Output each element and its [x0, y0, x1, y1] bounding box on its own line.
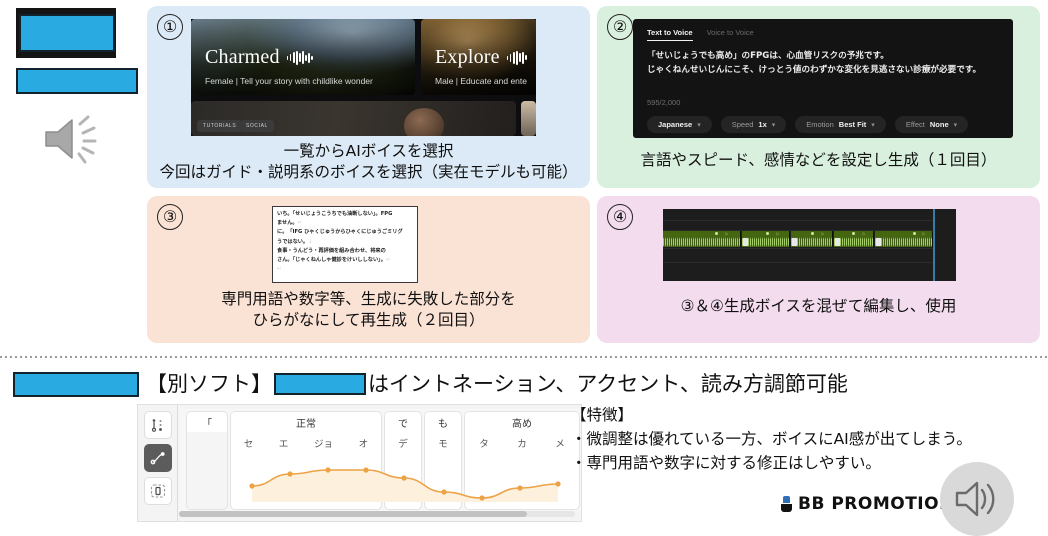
- redacted-product-name: [274, 373, 366, 395]
- tab-text-to-voice[interactable]: Text to Voice: [647, 28, 693, 41]
- chevron-down-icon: ▾: [871, 121, 875, 129]
- logo-mark-top: [783, 496, 790, 503]
- voice-card-title-text: Charmed: [205, 46, 280, 69]
- tag-social[interactable]: SOCIAL: [240, 120, 274, 132]
- character-counter: 595/2,000: [647, 98, 680, 107]
- tag-tutorials[interactable]: TUTORIALS: [197, 120, 242, 132]
- pitch-curve-tool-button[interactable]: [144, 444, 172, 472]
- intonation-editor: 「 正常 で も 高め セ エ ジョ オ デ: [137, 404, 582, 522]
- mora-labels: タ カ メ: [465, 436, 579, 450]
- clip-badge: [792, 238, 797, 246]
- mora-column-seijou[interactable]: セ エ ジョ オ: [230, 432, 382, 510]
- segment-mo[interactable]: も: [424, 411, 462, 432]
- doc-line-4: うではない。: [277, 239, 308, 245]
- audio-clip[interactable]: fx: [834, 231, 874, 247]
- headline-prefix: 【別ソフト】: [146, 369, 272, 399]
- speed-value: 1x: [758, 120, 766, 129]
- step-panel-1: ① Charmed Female | Tell your story with …: [147, 6, 590, 188]
- clip-waveform: [791, 237, 832, 247]
- mora-labels: モ: [425, 436, 461, 450]
- language-value: Japanese: [658, 120, 692, 129]
- effect-label: Effect: [906, 120, 925, 129]
- voice-card-banner[interactable]: TUTORIALS SOCIAL: [191, 101, 516, 136]
- document-screenshot: いち。「せいじょうこうちでも油断しない」。FPG ません。↵ に。 「IFG ひ…: [272, 206, 418, 283]
- doc-line-1: いち。「せいじょうこうちでも油断しない」。FPG: [277, 211, 392, 217]
- mora-o: オ: [359, 436, 369, 450]
- bottom-headline: 【別ソフト】 はイントネーション、アクセント、読み方調節可能: [146, 369, 848, 399]
- waveform-icon: [287, 51, 313, 65]
- voice-card-subtitle: Male | Educate and ente: [435, 76, 527, 86]
- speaker-icon: [38, 108, 106, 170]
- bb-promotion-logo: BB PROMOTION: [781, 494, 954, 514]
- logo-mark-icon: [781, 496, 792, 512]
- clip-fx-icon: fx: [922, 232, 925, 236]
- clip-badge: [743, 238, 748, 246]
- clip-fx-icon: fx: [862, 232, 865, 236]
- doc-line-6: さん。「じゃくねんしゃ健診をけいししない」。: [277, 257, 386, 263]
- timeline-gridline: [663, 262, 933, 263]
- audio-clip[interactable]: fx: [791, 231, 833, 247]
- audio-clip[interactable]: fx: [742, 231, 790, 247]
- step-panel-3: ③ いち。「せいじょうこうちでも油断しない」。FPG ません。↵ に。 「IFG…: [147, 196, 590, 343]
- tts-editor-screenshot: Text to Voice Voice to Voice 「せいじょうでも高め」…: [633, 19, 1013, 138]
- clip-dot-icon: [766, 232, 769, 235]
- voice-card-title: Charmed: [205, 46, 313, 69]
- mora-ka: カ: [517, 436, 527, 450]
- length-tool-button[interactable]: [144, 477, 172, 505]
- emotion-select[interactable]: Emotion Best Fit ▾: [795, 116, 886, 133]
- step-number-1: ①: [157, 14, 183, 40]
- step-number-2: ②: [607, 14, 633, 40]
- editor-tool-column: [138, 405, 178, 522]
- clip-dot-icon: [852, 232, 855, 235]
- tab-voice-to-voice[interactable]: Voice to Voice: [707, 28, 754, 41]
- segment-takame[interactable]: 高め: [464, 411, 580, 432]
- voice-card-charmed[interactable]: Charmed Female | Tell your story with ch…: [191, 19, 415, 95]
- voice-card-explore[interactable]: Explore Male | Educate and ente: [421, 19, 536, 95]
- emotion-value: Best Fit: [839, 120, 867, 129]
- redacted-subtitle-block: [16, 68, 138, 94]
- mora-e: エ: [279, 436, 289, 450]
- horizontal-scrollbar[interactable]: [179, 511, 575, 517]
- speed-select[interactable]: Speed 1x ▾: [721, 116, 787, 133]
- accent-tool-button[interactable]: [144, 411, 172, 439]
- section-divider: [0, 356, 1048, 358]
- mora-column-empty: [186, 432, 228, 510]
- pilcrow-mark: ↵: [277, 266, 281, 272]
- document-text: いち。「せいじょうこうちでも油断しない」。FPG ません。↵ に。 「IFG ひ…: [277, 210, 417, 274]
- chevron-down-icon: ▾: [954, 121, 958, 129]
- step-number-4: ④: [607, 204, 633, 230]
- clip-fx-icon: fx: [821, 232, 824, 236]
- step-caption-4: ③＆④生成ボイスを混ぜて編集し、使用: [597, 296, 1040, 317]
- clip-dot-icon: [913, 232, 916, 235]
- chevron-down-icon: ▾: [772, 121, 776, 129]
- mora-ta: タ: [479, 436, 489, 450]
- mora-se: セ: [244, 436, 254, 450]
- mora-me: メ: [555, 436, 565, 450]
- waveform-icon: [507, 51, 527, 65]
- voice-library-second-row: TUTORIALS SOCIAL: [191, 101, 536, 136]
- timeline-gridline: [663, 248, 933, 249]
- redacted-bottom-label: [13, 372, 139, 397]
- step-number-3: ③: [157, 204, 183, 230]
- logo-text: BB PROMOTION: [798, 494, 954, 514]
- segment-seijou[interactable]: 正常: [230, 411, 382, 432]
- intonation-grid: 「 正常 で も 高め セ エ ジョ オ デ: [179, 409, 581, 511]
- speed-label: Speed: [732, 120, 754, 129]
- language-select[interactable]: Japanese ▾: [647, 116, 712, 133]
- mora-labels: デ: [385, 436, 421, 450]
- clip-dot-icon: [811, 232, 814, 235]
- chevron-down-icon: ▾: [697, 121, 701, 129]
- step-panel-2: ② Text to Voice Voice to Voice 「せいじょうでも高…: [597, 6, 1040, 188]
- word-segment-row: 「 正常 で も 高め: [186, 411, 582, 432]
- clip-fx-icon: fx: [776, 232, 779, 236]
- segment-de[interactable]: で: [384, 411, 422, 432]
- headline-suffix: はイントネーション、アクセント、読み方調節可能: [368, 369, 848, 399]
- doc-line-5: 食事・うんどう・再評価を組み合わせ、将来の: [277, 248, 386, 254]
- mora-de: デ: [398, 436, 408, 450]
- tts-tab-bar: Text to Voice Voice to Voice: [647, 28, 754, 41]
- mora-row: セ エ ジョ オ デ モ タ カ メ: [186, 432, 582, 510]
- mora-column-mo[interactable]: モ: [424, 432, 462, 510]
- brand-column: [0, 0, 146, 185]
- segment-quote[interactable]: 「: [186, 411, 228, 432]
- doc-line-2: ません。: [277, 220, 298, 226]
- mora-column-takame[interactable]: タ カ メ: [464, 432, 580, 510]
- clip-dot-icon: [715, 232, 718, 235]
- voice-card-title: Explore: [435, 46, 527, 69]
- voice-card-title-text: Explore: [435, 46, 500, 69]
- step-panel-4: ④ fx fx fx: [597, 196, 1040, 343]
- mora-jo: ジョ: [314, 436, 333, 450]
- tts-text-input[interactable]: 「せいじょうでも高め」のFPGは、心血管リスクの予兆です。 じゃくねんせいじんに…: [647, 49, 1005, 77]
- clip-waveform: [875, 237, 932, 247]
- mora-labels: セ エ ジョ オ: [231, 436, 381, 450]
- clip-waveform: [742, 237, 789, 247]
- audio-clip[interactable]: fx: [875, 231, 933, 247]
- pilcrow-mark: ↵: [298, 220, 302, 226]
- step-caption-2: 言語やスピード、感情などを設定し生成（１回目）: [597, 150, 1040, 171]
- clip-badge: [835, 238, 840, 246]
- pilcrow-mark: ↵: [386, 257, 390, 263]
- mora-mo: モ: [438, 436, 448, 450]
- pilcrow-mark: ↓: [308, 239, 312, 245]
- person-thumbnail: [404, 108, 444, 136]
- playhead[interactable]: [933, 209, 935, 281]
- emotion-label: Emotion: [806, 120, 834, 129]
- voice-library-screenshot: Charmed Female | Tell your story with ch…: [191, 19, 536, 136]
- audio-track[interactable]: fx fx fx fx: [663, 231, 933, 247]
- effect-select[interactable]: Effect None ▾: [895, 116, 968, 133]
- step-caption-3: 専門用語や数字等、生成に失敗した部分を ひらがなにして再生成（２回目）: [147, 289, 590, 331]
- logo-mark-bottom: [781, 504, 792, 512]
- voice-card-partial[interactable]: [521, 101, 536, 136]
- clip-waveform: [663, 237, 740, 247]
- redacted-title-block: [19, 14, 115, 52]
- mora-column-de[interactable]: デ: [384, 432, 422, 510]
- features-text: 【特徴】 ・微調整は優れている一方、ボイスにAI感が出てしまう。 ・専門用語や数…: [571, 403, 972, 475]
- doc-line-3: に。 「IFG ひゃくじゅうからひゃくにじゅうごミリグ: [277, 229, 403, 235]
- step-caption-1: 一覧からAIボイスを選択 今回はガイド・説明系のボイスを選択（実在モデルも可能）: [147, 141, 590, 183]
- timeline-gridline: [663, 220, 933, 221]
- timeline-screenshot: fx fx fx fx: [663, 209, 956, 281]
- clip-badge: [876, 238, 881, 246]
- clip-fx-icon: fx: [725, 232, 728, 236]
- scrollbar-thumb[interactable]: [179, 511, 527, 517]
- voice-card-subtitle: Female | Tell your story with childlike …: [205, 76, 373, 86]
- effect-value: None: [930, 120, 949, 129]
- audio-clip[interactable]: fx: [663, 231, 741, 247]
- tts-settings-row: Japanese ▾ Speed 1x ▾ Emotion Best Fit ▾…: [647, 116, 968, 133]
